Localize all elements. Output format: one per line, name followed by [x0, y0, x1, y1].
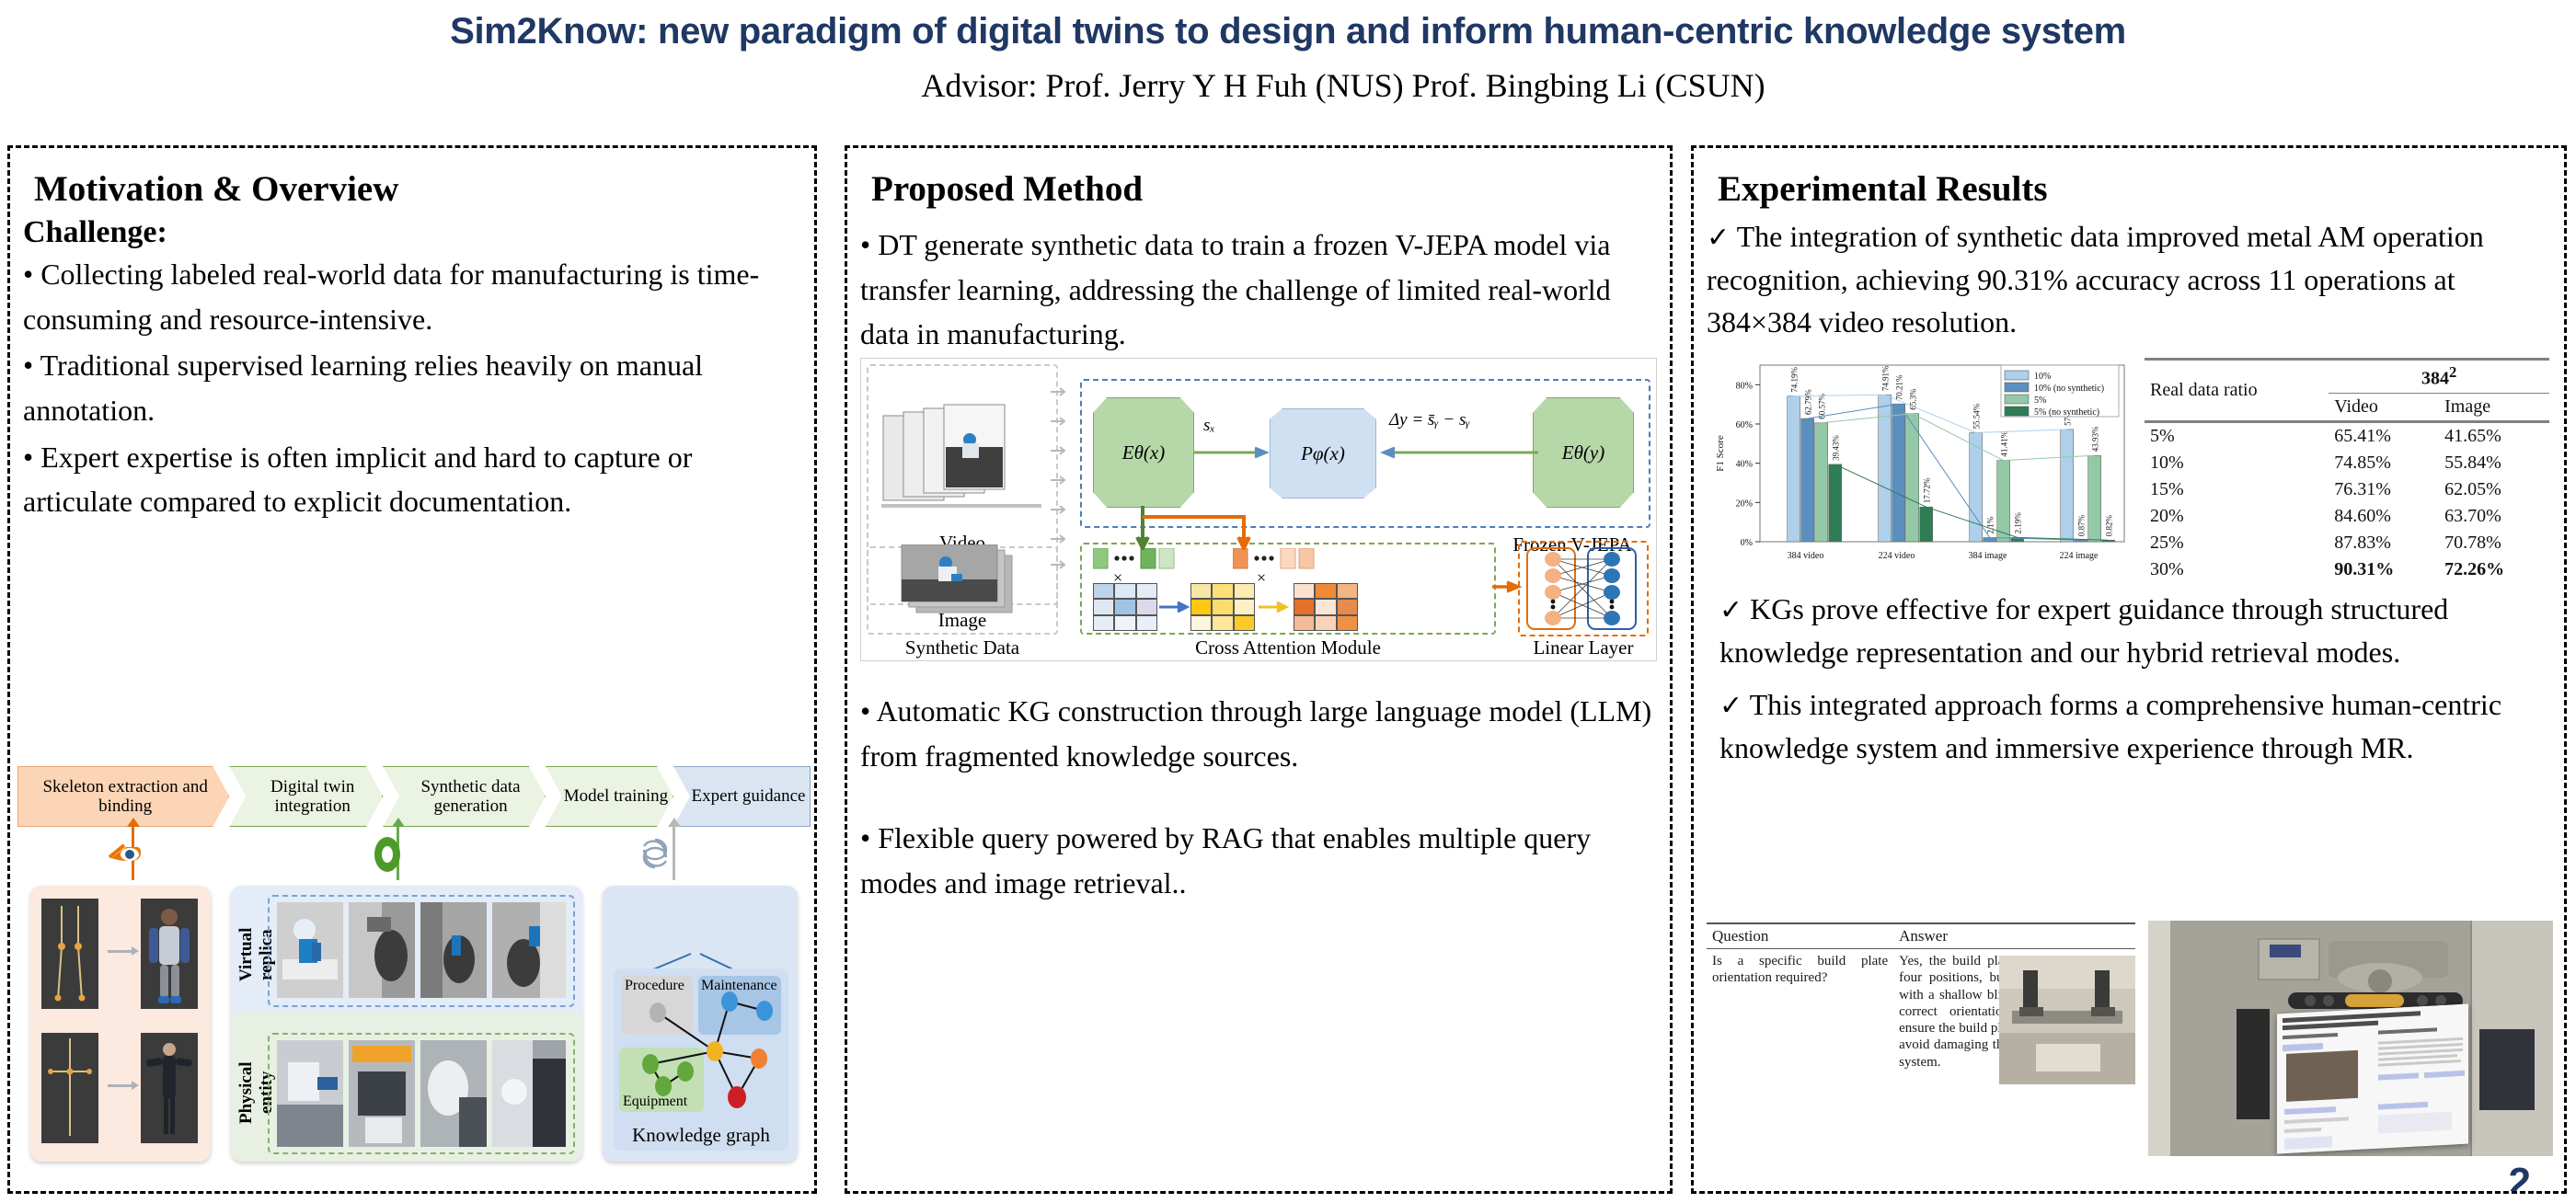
delta-y-label: Δy = s̄ᵧ − sᵧ — [1389, 410, 1470, 430]
bar-value-label: 2.19% — [2014, 512, 2023, 534]
page-number: 2 — [2509, 1160, 2531, 1194]
group-header-text: 384 — [2421, 369, 2449, 389]
bar-value-label: 0.82% — [2105, 515, 2114, 537]
encoder-y-node: Eθ(y) — [1533, 397, 1634, 508]
openai-icon — [636, 834, 674, 877]
vr-thumb-3 — [420, 902, 487, 998]
chart-bar — [1801, 418, 1814, 542]
chart-bar — [1906, 414, 1919, 542]
section-heading-results: Experimental Results — [1718, 168, 2564, 210]
x-tick-label: 224 video — [1879, 551, 1915, 561]
y-tick-label: 40% — [1736, 460, 1753, 470]
cell-video: 87.83% — [2329, 530, 2439, 556]
arrow-head-blender — [127, 818, 140, 827]
attention-matrix-orange — [1294, 583, 1358, 631]
panel-motivation-overview: Motivation & Overview Challenge: • Colle… — [7, 145, 817, 1194]
pipeline-step-digital-twin[interactable]: Digital twin integration — [229, 766, 383, 827]
pe-thumb-4 — [492, 1040, 566, 1147]
check-icon: ✓ — [1707, 223, 1730, 253]
table-row: 10%74.85%55.84% — [2145, 450, 2549, 476]
skeleton-thumb-1 — [41, 899, 98, 1009]
check-icon: ✓ — [1719, 691, 1742, 721]
table-row: 15%76.31%62.05% — [2145, 476, 2549, 503]
page-title: Sim2Know: new paradigm of digital twins … — [0, 11, 2576, 52]
bar-value-label: 0.87% — [2077, 514, 2087, 536]
bind-arrow-head-2 — [132, 1081, 139, 1090]
cell-ratio: 20% — [2145, 503, 2329, 530]
to-linear-arrow — [1490, 579, 1524, 594]
legend-swatch — [2005, 407, 2029, 416]
vr-thumb-1 — [277, 902, 343, 998]
pipeline-step-label: Skeleton extraction and binding — [26, 777, 224, 817]
sx-label: sₓ — [1203, 416, 1215, 436]
digital-twin-card: Virtual replica Physical entity — [231, 886, 582, 1162]
cell-video: 90.31% — [2329, 556, 2439, 583]
image-label: Image — [867, 609, 1058, 632]
arrow-head-unity — [392, 818, 405, 827]
result-check-1-text: The integration of synthetic data improv… — [1707, 220, 2484, 338]
middle-bullet-1: • DT generate synthetic data to train a … — [860, 223, 1670, 357]
subheading-challenge: Challenge: — [23, 215, 814, 250]
bar-value-label: 17.72% — [1923, 477, 1932, 503]
tool-logo-row — [17, 831, 811, 880]
group-header-sup: 2 — [2449, 363, 2456, 381]
col-header-image: Image — [2439, 393, 2549, 421]
legend-swatch — [2005, 371, 2029, 380]
cell-video: 65.41% — [2329, 421, 2439, 450]
linear-layer-caption: Linear Layer — [1511, 636, 1656, 659]
legend-label: 5% (no synthetic) — [2034, 407, 2099, 418]
pipeline-step-label: Digital twin integration — [247, 777, 378, 817]
legend-label: 10% — [2034, 372, 2051, 382]
bind-arrow-1 — [108, 950, 133, 953]
middle-bullet-2: • Automatic KG construction through larg… — [860, 689, 1673, 778]
architecture-figure: Video Eθ(x) Pφ(x) — [860, 358, 1657, 661]
f1-score-chart: 0%20%40%60%80%F1 Score74.19%62.79%60.57%… — [1708, 352, 2132, 582]
poster-root: Sim2Know: new paradigm of digital twins … — [0, 0, 2576, 1203]
qa-col-question: Question — [1707, 923, 1893, 949]
pe-thumb-3 — [420, 1040, 487, 1147]
results-table-body: 5%65.41%41.65%10%74.85%55.84%15%76.31%62… — [2145, 421, 2549, 583]
skeleton-thumb-2 — [141, 899, 198, 1009]
arrow-head-openai — [668, 818, 681, 827]
linear-layer-network — [1525, 546, 1641, 631]
mr-tablet-screen — [2277, 1004, 2468, 1154]
pipeline-step-label: Synthetic data generation — [400, 777, 541, 817]
matrix-arrow-yellow — [1257, 600, 1294, 614]
y-tick-label: 0% — [1741, 538, 1753, 548]
cell-video: 84.60% — [2329, 503, 2439, 530]
qa-table-wrap: Question Answer Is a specific build plat… — [1707, 922, 2135, 1187]
result-check-2: ✓ KGs prove effective for expert guidanc… — [1719, 588, 2566, 673]
green-token-row — [1093, 548, 1213, 575]
cell-image: 70.78% — [2439, 530, 2549, 556]
table-row: 5%65.41%41.65% — [2145, 421, 2549, 450]
chart-canvas: 0%20%40%60%80%F1 Score74.19%62.79%60.57%… — [1708, 352, 2132, 582]
check-icon: ✓ — [1719, 595, 1742, 625]
encoder-x-node: Eθ(x) — [1093, 397, 1194, 508]
qa-col-answer: Answer — [1893, 923, 2135, 949]
left-bullet-2: • Traditional supervised learning relies… — [23, 343, 814, 432]
pipeline-step-expert-guidance[interactable]: Expert guidance — [673, 766, 811, 827]
cell-ratio: 25% — [2145, 530, 2329, 556]
cell-image: 55.84% — [2439, 450, 2549, 476]
cell-image: 62.05% — [2439, 476, 2549, 503]
legend-swatch — [2005, 383, 2029, 392]
cell-image: 63.70% — [2439, 503, 2549, 530]
table-row: 20%84.60%63.70% — [2145, 503, 2549, 530]
panel-experimental-results: Experimental Results ✓ The integration o… — [1691, 145, 2567, 1194]
synthetic-data-caption: Synthetic Data — [861, 636, 1064, 659]
cell-ratio: 10% — [2145, 450, 2329, 476]
matrix-arrow-blue — [1157, 600, 1192, 614]
bind-arrow-2 — [108, 1084, 133, 1087]
bar-value-label: 41.41% — [2000, 430, 2009, 456]
bar-value-label: 2.1% — [1986, 516, 1995, 533]
legend-label: 10% (no synthetic) — [2034, 384, 2104, 394]
pipeline-step-label: Expert guidance — [692, 786, 806, 806]
cross-attention-caption: Cross Attention Module — [1080, 636, 1496, 659]
y-tick-label: 60% — [1736, 420, 1753, 430]
results-table-wrap: Real data ratio 3842 Video Image 5%65.41… — [2145, 358, 2549, 562]
cell-video: 74.85% — [2329, 450, 2439, 476]
results-table: Real data ratio 3842 Video Image 5%65.41… — [2145, 358, 2549, 583]
chart-bar — [1984, 538, 1996, 542]
bar-value-label: 43.93% — [2091, 426, 2100, 452]
bar-value-label: 70.21% — [1895, 374, 1904, 400]
encoder-x-label: Eθ(x) — [1122, 441, 1165, 464]
y-tick-label: 20% — [1736, 498, 1753, 509]
chart-bar — [2088, 455, 2101, 542]
vr-thumb-2 — [349, 902, 415, 998]
advisor-line: Advisor: Prof. Jerry Y H Fuh (NUS) Prof.… — [0, 66, 2576, 105]
result-check-1: ✓ The integration of synthetic data impr… — [1707, 215, 2564, 343]
skeleton-thumb-4 — [141, 1033, 198, 1143]
result-check-2-text: KGs prove effective for expert guidance … — [1719, 592, 2448, 669]
chart-bar — [1920, 507, 1933, 542]
bar-value-label: 74.19% — [1790, 366, 1800, 392]
section-heading-method: Proposed Method — [871, 168, 1670, 210]
build-plate-photo — [1999, 956, 2135, 1084]
x-tick-label: 224 image — [2060, 551, 2099, 561]
encoder-to-tokens-arrows — [1133, 506, 1317, 550]
kg-graph-area: Procedure Maintenance Equipment — [614, 968, 788, 1151]
cell-ratio: 30% — [2145, 556, 2329, 583]
chart-bar — [2061, 430, 2074, 542]
skeleton-thumb-3 — [41, 1033, 98, 1143]
result-check-3: ✓ This integrated approach forms a compr… — [1719, 683, 2566, 769]
times-symbol-2: × — [1257, 568, 1266, 588]
panel-proposed-method: Proposed Method • DT generate synthetic … — [845, 145, 1673, 1194]
x-tick-label: 384 video — [1788, 551, 1824, 561]
cell-ratio: 5% — [2145, 421, 2329, 450]
bar-value-label: 39.43% — [1832, 435, 1841, 461]
result-check-3-text: This integrated approach forms a compreh… — [1719, 688, 2501, 764]
left-bullet-1: • Collecting labeled real-world data for… — [23, 252, 814, 341]
chart-bar — [1829, 464, 1842, 542]
left-bullet-3: • Expert expertise is often implicit and… — [23, 435, 814, 524]
encoder-y-label: Eθ(y) — [1562, 441, 1604, 464]
cell-image: 41.65% — [2439, 421, 2549, 450]
pipeline-step-label: Model training — [564, 786, 668, 806]
section-heading-motivation: Motivation & Overview — [34, 168, 814, 210]
chart-bar — [1997, 461, 2010, 542]
knowledge-graph-card: ? Procedure Maintenance Equipment — [603, 886, 798, 1162]
kg-title: Knowledge graph — [614, 1124, 788, 1147]
bar-value-label: 55.54% — [1972, 403, 1982, 429]
arch-horizontal-arrows — [1192, 443, 1540, 464]
video-to-encoder-arrows — [1051, 383, 1071, 574]
qa-header-row: Question Answer — [1707, 923, 2135, 949]
cell-ratio: 15% — [2145, 476, 2329, 503]
qa-question-cell: Is a specific build plate orientation re… — [1707, 949, 1893, 1075]
table-row: 30%90.31%72.26% — [2145, 556, 2549, 583]
chart-bar — [1788, 396, 1800, 542]
unity-icon — [369, 834, 406, 879]
overview-gallery: Virtual replica Physical entity — [21, 880, 809, 1171]
vr-thumb-4 — [492, 902, 566, 998]
chart-bar — [1892, 404, 1905, 542]
video-frames-stack — [881, 399, 1047, 521]
attention-matrix-blue — [1093, 583, 1157, 631]
legend-swatch — [2005, 395, 2029, 404]
pipeline-step-synthetic-data[interactable]: Synthetic data generation — [383, 766, 546, 827]
mr-demo-photo — [2148, 921, 2553, 1156]
pipeline-step-model-training[interactable]: Model training — [546, 766, 673, 827]
col-header-real-data-ratio: Real data ratio — [2145, 360, 2329, 422]
col-group-header: 3842 — [2329, 360, 2549, 394]
col-header-video: Video — [2329, 393, 2439, 421]
bar-value-label: 62.79% — [1804, 389, 1813, 415]
x-tick-label: 384 image — [1969, 551, 2007, 561]
kg-edges — [614, 968, 788, 1130]
orange-token-row — [1233, 548, 1371, 575]
skeleton-binding-card — [30, 886, 211, 1162]
middle-bullet-3: • Flexible query powered by RAG that ena… — [860, 816, 1673, 905]
cell-video: 76.31% — [2329, 476, 2439, 503]
pe-thumb-1 — [277, 1040, 343, 1147]
chart-bar — [1815, 423, 1828, 542]
pe-thumb-2 — [349, 1040, 415, 1147]
bind-arrow-head-1 — [132, 946, 139, 956]
legend-label: 5% — [2034, 395, 2046, 406]
y-axis-label: F1 Score — [1715, 435, 1726, 472]
y-tick-label: 80% — [1736, 381, 1753, 391]
blender-icon — [106, 834, 144, 877]
bar-value-label: 74.91% — [1881, 365, 1891, 391]
table-group-header-row: Real data ratio 3842 — [2145, 360, 2549, 394]
attention-matrix-yellow — [1190, 583, 1255, 631]
table-row: 25%87.83%70.78% — [2145, 530, 2549, 556]
cell-image: 72.26% — [2439, 556, 2549, 583]
pipeline-step-skeleton-extraction[interactable]: Skeleton extraction and binding — [17, 766, 229, 827]
